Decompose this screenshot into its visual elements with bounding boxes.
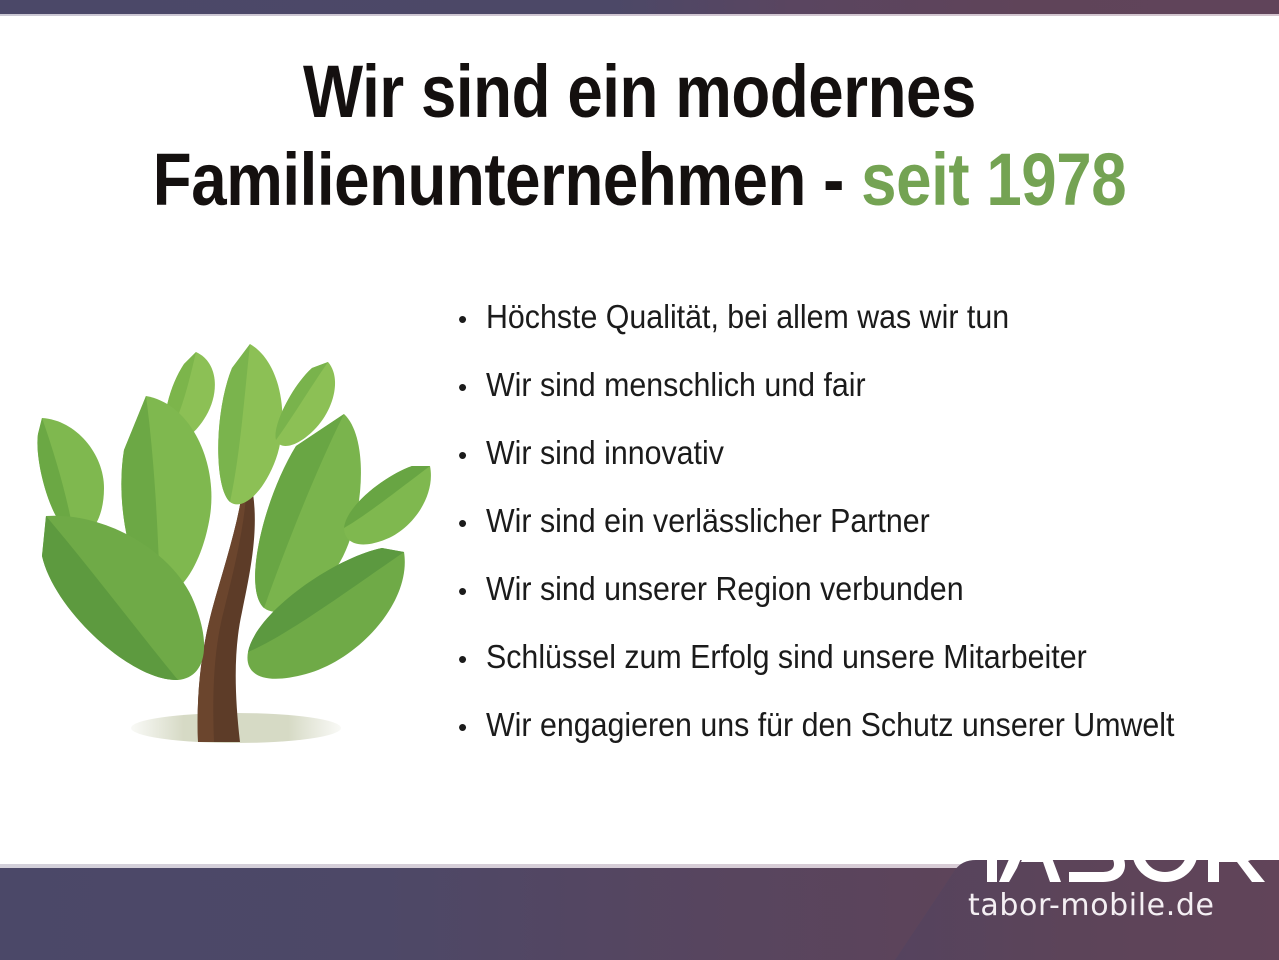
brand-logo-panel: tabor-mobile.de (880, 804, 1279, 960)
list-item: • Wir engagieren uns für den Schutz unse… (458, 708, 1268, 776)
list-item-label: Wir sind unserer Region verbunden (486, 572, 964, 605)
title-line-1: Wir sind ein modernes (90, 48, 1190, 136)
title-line-2-main: Familienunternehmen - (153, 138, 861, 221)
title-line-2: Familienunternehmen - seit 1978 (90, 136, 1190, 224)
list-item-label: Schlüssel zum Erfolg sind unsere Mitarbe… (486, 640, 1087, 673)
list-item-label: Wir sind innovativ (486, 436, 724, 469)
page-title: Wir sind ein modernes Familienunternehme… (0, 48, 1279, 224)
list-item: • Schlüssel zum Erfolg sind unsere Mitar… (458, 640, 1268, 708)
list-item: • Höchste Qualität, bei allem was wir tu… (458, 300, 1268, 368)
list-item: • Wir sind innovativ (458, 436, 1268, 504)
bullet-icon: • (458, 510, 486, 536)
top-accent-bar (0, 0, 1279, 14)
value-bullet-list: • Höchste Qualität, bei allem was wir tu… (458, 300, 1268, 776)
bullet-icon: • (458, 306, 486, 332)
list-item: • Wir sind menschlich und fair (458, 368, 1268, 436)
list-item-label: Höchste Qualität, bei allem was wir tun (486, 300, 1009, 333)
bullet-icon: • (458, 714, 486, 740)
logo-tagline: tabor-mobile.de (968, 888, 1268, 923)
bullet-icon: • (458, 374, 486, 400)
title-accent-year: seit 1978 (861, 138, 1126, 221)
list-item-label: Wir engagieren uns für den Schutz unsere… (486, 708, 1174, 741)
leaf-top-center (218, 344, 282, 504)
bullet-icon: • (458, 646, 486, 672)
top-accent-bar-edge (0, 14, 1279, 16)
bullet-icon: • (458, 578, 486, 604)
list-item: • Wir sind unserer Region verbunden (458, 572, 1268, 640)
tree-icon (28, 330, 448, 760)
list-item-label: Wir sind menschlich und fair (486, 368, 866, 401)
list-item: • Wir sind ein verlässlicher Partner (458, 504, 1268, 572)
logo-content: tabor-mobile.de (880, 804, 1279, 960)
tree-illustration (28, 330, 448, 760)
bullet-icon: • (458, 442, 486, 468)
tabor-wordmark-icon (965, 816, 1265, 882)
list-item-label: Wir sind ein verlässlicher Partner (486, 504, 930, 537)
slide-canvas: Wir sind ein modernes Familienunternehme… (0, 0, 1279, 960)
